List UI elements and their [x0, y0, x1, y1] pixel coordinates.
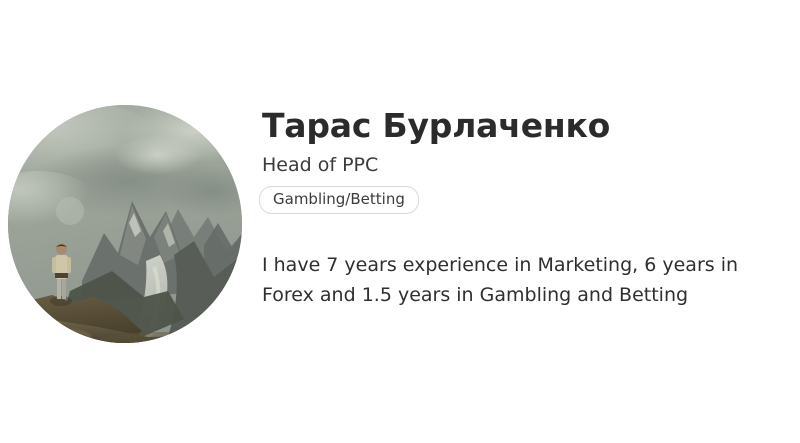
tag-row: Gambling/Betting	[259, 186, 762, 214]
page-title: Тарас Бурлаченко	[262, 106, 762, 146]
profile-card: Тарас Бурлаченко Head of PPC Gambling/Be…	[0, 0, 800, 443]
profile-bio: I have 7 years experience in Marketing, …	[262, 250, 742, 310]
avatar[interactable]	[8, 105, 242, 343]
profile-photo	[8, 105, 242, 343]
status-badge[interactable]: Gambling/Betting	[259, 186, 419, 214]
person-role: Head of PPC	[262, 153, 762, 177]
profile-info: Тарас Бурлаченко Head of PPC Gambling/Be…	[262, 106, 762, 310]
